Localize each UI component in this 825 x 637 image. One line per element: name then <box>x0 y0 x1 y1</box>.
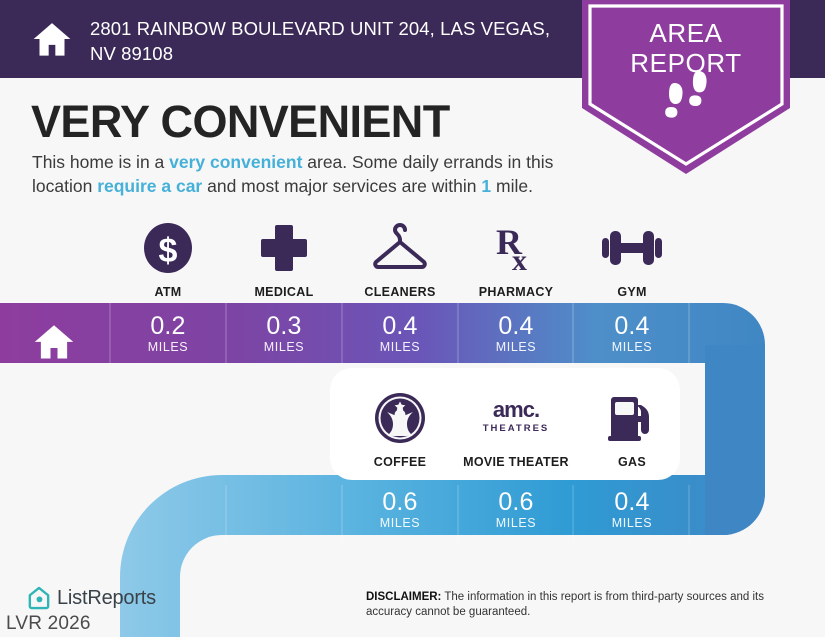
svg-text:$: $ <box>159 232 178 270</box>
summary-highlight-2: require a car <box>97 176 202 196</box>
distance-row-1: 0.2 MILES 0.3 MILES 0.4 MILES 0.4 MILES … <box>110 313 690 355</box>
amenity-icons-row-2: COFFEE amc. THEATRES MOVIE THEATER <box>342 392 690 469</box>
distance-unit: MILES <box>342 340 458 355</box>
summary-highlight-1: very convenient <box>169 152 302 172</box>
distance-cell: 0.4 MILES <box>574 489 690 531</box>
amenity-label: COFFEE <box>374 455 427 469</box>
amenity-icons-row-1: $ ATM MEDICAL CLEANERS <box>110 222 690 299</box>
distance-unit: MILES <box>226 340 342 355</box>
home-icon-bar <box>33 320 75 362</box>
amenity-label: MEDICAL <box>254 285 313 299</box>
distance-row-2: 0.6 MILES 0.6 MILES 0.4 MILES <box>342 489 690 531</box>
summary-part-1: This home is in a <box>32 152 169 172</box>
distance-unit: MILES <box>342 516 458 531</box>
distance-cell: 0.3 MILES <box>226 313 342 355</box>
amenity-cleaners: CLEANERS <box>342 222 458 299</box>
amenity-coffee: COFFEE <box>342 392 458 469</box>
distance-value: 0.4 <box>342 313 458 340</box>
distance-value: 0.6 <box>342 489 458 516</box>
distance-value: 0.6 <box>458 489 574 516</box>
amenity-gym: GYM <box>574 222 690 299</box>
distance-cell: 0.4 MILES <box>574 313 690 355</box>
amenity-label: PHARMACY <box>479 285 554 299</box>
amc-theatres-icon: amc. THEATRES <box>479 392 553 444</box>
listreports-house-icon <box>28 586 50 610</box>
distance-unit: MILES <box>574 340 690 355</box>
brand-name: ListReports <box>57 587 156 610</box>
area-report-badge: AREA REPORT <box>582 0 790 174</box>
disclaimer-label: DISCLAIMER: <box>366 591 441 603</box>
amenity-label: MOVIE THEATER <box>463 455 569 469</box>
atm-dollar-icon: $ <box>143 222 193 274</box>
home-icon <box>32 19 72 59</box>
brand-logo: ListReports <box>28 586 156 610</box>
amenity-label: ATM <box>154 285 181 299</box>
area-report-infographic: 2801 RAINBOW BOULEVARD UNIT 204, LAS VEG… <box>0 0 825 637</box>
amenity-atm: $ ATM <box>110 222 226 299</box>
amenity-medical: MEDICAL <box>226 222 342 299</box>
distance-unit: MILES <box>110 340 226 355</box>
summary-highlight-3: 1 <box>481 176 491 196</box>
brand-subtext: LVR 2026 <box>6 613 91 635</box>
property-address: 2801 RAINBOW BOULEVARD UNIT 204, LAS VEG… <box>90 16 560 66</box>
amenity-label: GYM <box>617 285 646 299</box>
distance-cell: 0.6 MILES <box>342 489 458 531</box>
disclaimer: DISCLAIMER: The information in this repo… <box>366 590 794 620</box>
amenity-pharmacy: R x PHARMACY <box>458 222 574 299</box>
distance-cell: 0.4 MILES <box>342 313 458 355</box>
summary-part-3: and most major services are within <box>202 176 481 196</box>
distance-value: 0.4 <box>574 489 690 516</box>
amenity-label: GAS <box>618 455 646 469</box>
starbucks-coffee-icon <box>374 392 426 444</box>
clothes-hanger-icon <box>370 222 430 274</box>
distance-unit: MILES <box>574 516 690 531</box>
distance-unit: MILES <box>458 516 574 531</box>
gas-pump-icon <box>606 392 658 444</box>
svg-text:x: x <box>512 244 527 274</box>
distance-value: 0.4 <box>574 313 690 340</box>
distance-cell: 0.2 MILES <box>110 313 226 355</box>
distance-value: 0.2 <box>110 313 226 340</box>
svg-text:amc.: amc. <box>493 397 539 422</box>
amenity-label: CLEANERS <box>364 285 435 299</box>
header-content: 2801 RAINBOW BOULEVARD UNIT 204, LAS VEG… <box>32 16 560 66</box>
medical-cross-icon <box>259 222 309 274</box>
distance-value: 0.4 <box>458 313 574 340</box>
distance-cell: 0.6 MILES <box>458 489 574 531</box>
summary-text: This home is in a very convenient area. … <box>32 150 587 198</box>
amenity-gas: GAS <box>574 392 690 469</box>
dumbbell-icon <box>600 222 664 274</box>
rx-pharmacy-icon: R x <box>490 222 542 274</box>
distance-unit: MILES <box>458 340 574 355</box>
amenity-movie-theater: amc. THEATRES MOVIE THEATER <box>458 392 574 469</box>
page-title: VERY CONVENIENT <box>31 96 450 148</box>
distance-value: 0.3 <box>226 313 342 340</box>
svg-text:THEATRES: THEATRES <box>483 423 550 434</box>
distance-cell: 0.4 MILES <box>458 313 574 355</box>
summary-part-4: mile. <box>491 176 533 196</box>
